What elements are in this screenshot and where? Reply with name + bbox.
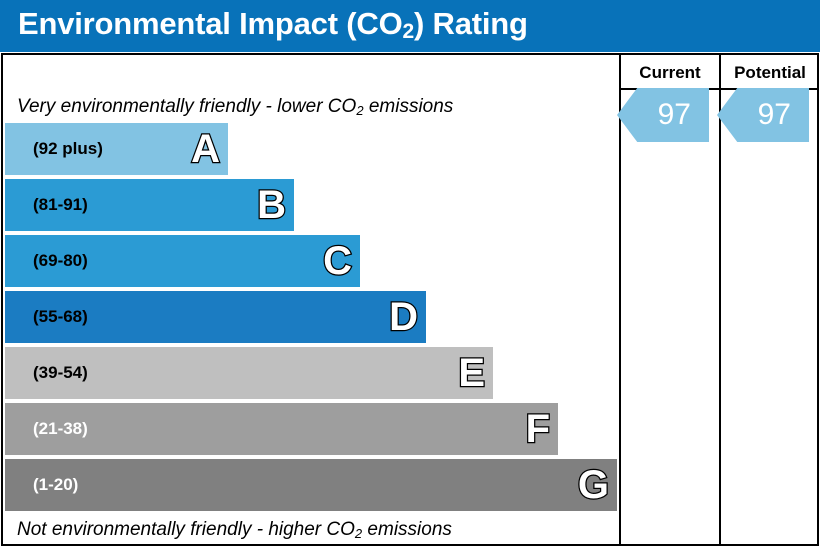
band-letter-e: E [458, 353, 485, 393]
column-header-current: Current [621, 60, 719, 86]
band-range-g: (1-20) [5, 475, 78, 495]
caption-bottom-suffix: emissions [362, 519, 452, 540]
rating-band-f: (21-38)F [5, 403, 558, 455]
caption-top-prefix: Very environmentally friendly - lower CO [17, 96, 356, 117]
chart-title-bar: Environmental Impact (CO2) Rating [0, 0, 820, 52]
caption-bottom-subscript: 2 [355, 526, 362, 541]
page-title-prefix: Environmental Impact (CO [18, 6, 403, 41]
band-letter-d: D [389, 297, 418, 337]
band-range-e: (39-54) [5, 363, 88, 383]
rating-band-c: (69-80)C [5, 235, 360, 287]
caption-bottom-prefix: Not environmentally friendly - higher CO [17, 519, 355, 540]
page-title: Environmental Impact (CO2) Rating [18, 6, 528, 42]
band-range-a: (92 plus) [5, 139, 103, 159]
potential-rating-value: 97 [758, 100, 809, 130]
page-title-suffix: ) Rating [414, 6, 528, 41]
current-rating-value: 97 [658, 100, 709, 130]
caption-bottom: Not environmentally friendly - higher CO… [5, 513, 617, 546]
epc-environmental-impact-chart: Environmental Impact (CO2) Rating Curren… [0, 0, 820, 547]
rating-band-e: (39-54)E [5, 347, 493, 399]
band-range-f: (21-38) [5, 419, 88, 439]
band-range-b: (81-91) [5, 195, 88, 215]
column-divider-potential [719, 55, 721, 544]
rating-band-b: (81-91)B [5, 179, 294, 231]
column-divider-current [619, 55, 621, 544]
rating-bands-area: Very environmentally friendly - lower CO… [5, 90, 617, 546]
rating-band-g: (1-20)G [5, 459, 617, 511]
page-title-subscript: 2 [403, 20, 414, 43]
rating-band-a: (92 plus)A [5, 123, 228, 175]
column-header-potential: Potential [721, 60, 819, 86]
band-letter-a: A [191, 129, 220, 169]
caption-top-subscript: 2 [356, 103, 363, 118]
band-letter-b: B [257, 185, 286, 225]
band-letter-f: F [526, 409, 550, 449]
band-letter-g: G [578, 465, 609, 505]
caption-top: Very environmentally friendly - lower CO… [5, 90, 617, 123]
band-letter-c: C [323, 241, 352, 281]
band-range-d: (55-68) [5, 307, 88, 327]
caption-top-suffix: emissions [364, 96, 454, 117]
band-range-c: (69-80) [5, 251, 88, 271]
rating-band-d: (55-68)D [5, 291, 426, 343]
